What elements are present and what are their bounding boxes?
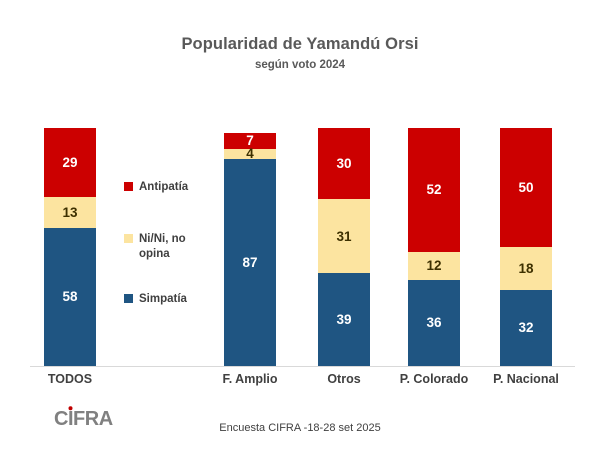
bar-group[interactable]: 521236 <box>408 128 460 366</box>
bar-value-label: 12 <box>426 259 441 273</box>
category-label-p-nacional: P. Nacional <box>466 372 586 386</box>
bar-segment-ni-ni[interactable]: 12 <box>408 252 460 281</box>
bar-segment-ni-ni[interactable]: 31 <box>318 199 370 273</box>
bar-value-label: 32 <box>518 321 533 335</box>
bar-group[interactable]: 501832 <box>500 128 552 366</box>
bar-segment-simpatia[interactable]: 39 <box>318 273 370 366</box>
bar-group[interactable]: 291358 <box>44 128 96 366</box>
bar-group[interactable]: 303139 <box>318 128 370 366</box>
legend-item-antipatia[interactable]: Antipatía <box>124 180 188 195</box>
bar-segment-simpatia[interactable]: 87 <box>224 159 276 366</box>
legend-label: Ni/Ni, no opina <box>139 232 216 261</box>
bar-value-label: 29 <box>62 156 77 170</box>
bar-value-label: 58 <box>62 290 77 304</box>
bar-value-label: 13 <box>62 206 77 220</box>
bar-value-label: 52 <box>426 183 441 197</box>
svg-text:C: C <box>54 408 68 430</box>
legend-item-ni-ni[interactable]: Ni/Ni, no opina <box>124 232 216 261</box>
legend-item-simpatia[interactable]: Simpatía <box>124 292 187 307</box>
legend-swatch-simpatia <box>124 294 133 303</box>
bar-group[interactable]: 7487 <box>224 133 276 366</box>
x-axis-line <box>30 366 575 367</box>
plot-area: 291358TODOS7487F. Amplio303139Otros52123… <box>0 0 600 450</box>
bar-segment-ni-ni[interactable]: 18 <box>500 247 552 290</box>
cifra-logo: C IFRA <box>52 404 128 430</box>
bar-segment-simpatia[interactable]: 36 <box>408 280 460 366</box>
bar-value-label: 50 <box>518 181 533 195</box>
legend-label: Simpatía <box>139 292 187 307</box>
legend-swatch-antipatia <box>124 182 133 191</box>
category-label-todos: TODOS <box>10 372 130 386</box>
bar-value-label: 87 <box>242 256 257 270</box>
bar-segment-antipatia[interactable]: 29 <box>44 128 96 197</box>
bar-segment-simpatia[interactable]: 58 <box>44 228 96 366</box>
legend-label: Antipatía <box>139 180 188 195</box>
bar-value-label: 36 <box>426 316 441 330</box>
bar-segment-antipatia[interactable]: 30 <box>318 128 370 199</box>
bar-segment-antipatia[interactable]: 52 <box>408 128 460 252</box>
bar-value-label: 30 <box>336 157 351 171</box>
legend-swatch-ni-ni <box>124 234 133 243</box>
bar-segment-simpatia[interactable]: 32 <box>500 290 552 366</box>
bar-value-label: 4 <box>246 147 254 161</box>
bar-segment-ni-ni[interactable]: 4 <box>224 149 276 159</box>
svg-text:IFRA: IFRA <box>68 408 113 430</box>
bar-value-label: 31 <box>336 230 351 244</box>
bar-segment-antipatia[interactable]: 50 <box>500 128 552 247</box>
bar-segment-ni-ni[interactable]: 13 <box>44 197 96 228</box>
bar-value-label: 39 <box>336 313 351 327</box>
bar-value-label: 18 <box>518 262 533 276</box>
